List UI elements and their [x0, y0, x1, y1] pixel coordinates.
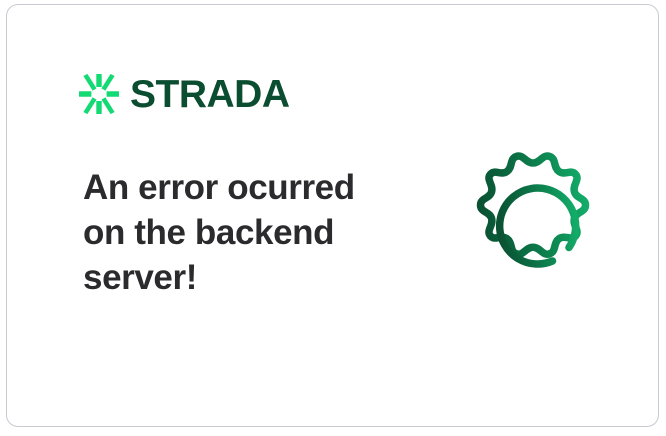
strada-asterisk-icon — [79, 74, 119, 114]
error-card: STRADA An error ocurred on the backend s… — [6, 4, 659, 427]
brand-logo: STRADA — [79, 71, 290, 117]
error-headline: An error ocurred on the backend server! — [83, 165, 383, 300]
brand-name: STRADA — [130, 75, 290, 114]
error-page: STRADA An error ocurred on the backend s… — [0, 0, 666, 436]
gear-cog-icon — [451, 139, 615, 311]
